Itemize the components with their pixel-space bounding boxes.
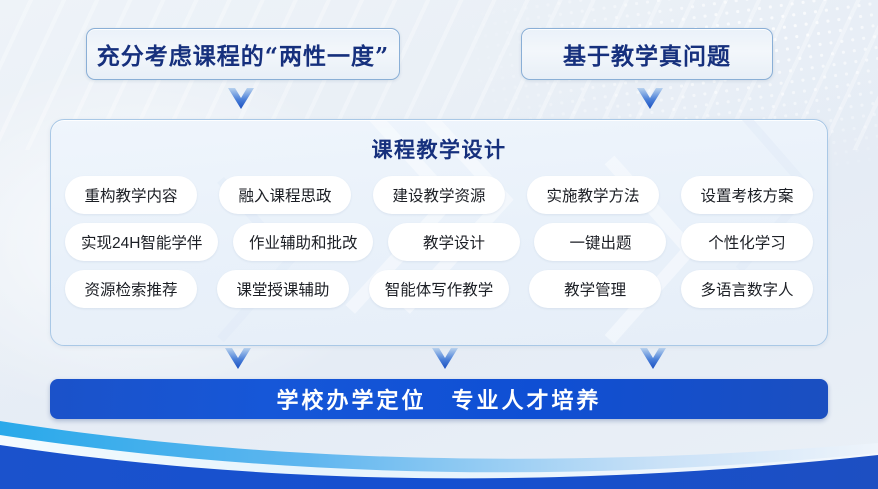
capability-pill[interactable]: 资源检索推荐 [65, 270, 197, 308]
course-design-panel: 课程教学设计 重构教学内容 融入课程思政 建设教学资源 实施教学方法 设置考核方… [50, 119, 828, 346]
page-title: 课程教学设计 [51, 134, 827, 164]
header-box-real-problems[interactable]: 基于教学真问题 [521, 28, 773, 80]
chevron-down-icon [432, 348, 458, 370]
capability-pill[interactable]: 个性化学习 [681, 223, 813, 261]
header-box-course-criteria[interactable]: 充分考虑课程的“两性一度” [86, 28, 400, 80]
capability-pill[interactable]: 一键出题 [534, 223, 666, 261]
capability-pill[interactable]: 融入课程思政 [219, 176, 351, 214]
chevron-down-icon [228, 88, 254, 110]
capability-pill[interactable]: 重构教学内容 [65, 176, 197, 214]
capability-pill[interactable]: 设置考核方案 [681, 176, 813, 214]
slide-canvas: 充分考虑课程的“两性一度” 基于教学真问题 [0, 0, 878, 489]
capability-pill[interactable]: 教学设计 [388, 223, 520, 261]
header-box-course-criteria-label: 充分考虑课程的“两性一度” [97, 37, 389, 71]
capability-pill[interactable]: 作业辅助和批改 [233, 223, 374, 261]
outcome-banner[interactable]: 学校办学定位 专业人才培养 [50, 379, 828, 419]
header-row: 充分考虑课程的“两性一度” 基于教学真问题 [0, 28, 878, 84]
capability-pill[interactable]: 建设教学资源 [373, 176, 505, 214]
capability-pill[interactable]: 智能体写作教学 [369, 270, 510, 308]
capability-pill[interactable]: 多语言数字人 [681, 270, 813, 308]
capability-pill[interactable]: 实现24H智能学伴 [65, 223, 218, 261]
capability-pill[interactable]: 实施教学方法 [527, 176, 659, 214]
header-box-real-problems-label: 基于教学真问题 [563, 37, 731, 71]
capability-row: 资源检索推荐 课堂授课辅助 智能体写作教学 教学管理 多语言数字人 [65, 270, 813, 308]
capability-row: 实现24H智能学伴 作业辅助和批改 教学设计 一键出题 个性化学习 [65, 223, 813, 261]
capability-grid: 重构教学内容 融入课程思政 建设教学资源 实施教学方法 设置考核方案 实现24H… [51, 176, 827, 308]
capability-row: 重构教学内容 融入课程思政 建设教学资源 实施教学方法 设置考核方案 [65, 176, 813, 214]
chevron-down-icon [640, 348, 666, 370]
capability-pill[interactable]: 教学管理 [529, 270, 661, 308]
chevron-down-icon [637, 88, 663, 110]
chevron-down-icon [225, 348, 251, 370]
outcome-banner-label: 学校办学定位 专业人才培养 [276, 383, 601, 415]
capability-pill[interactable]: 课堂授课辅助 [217, 270, 349, 308]
